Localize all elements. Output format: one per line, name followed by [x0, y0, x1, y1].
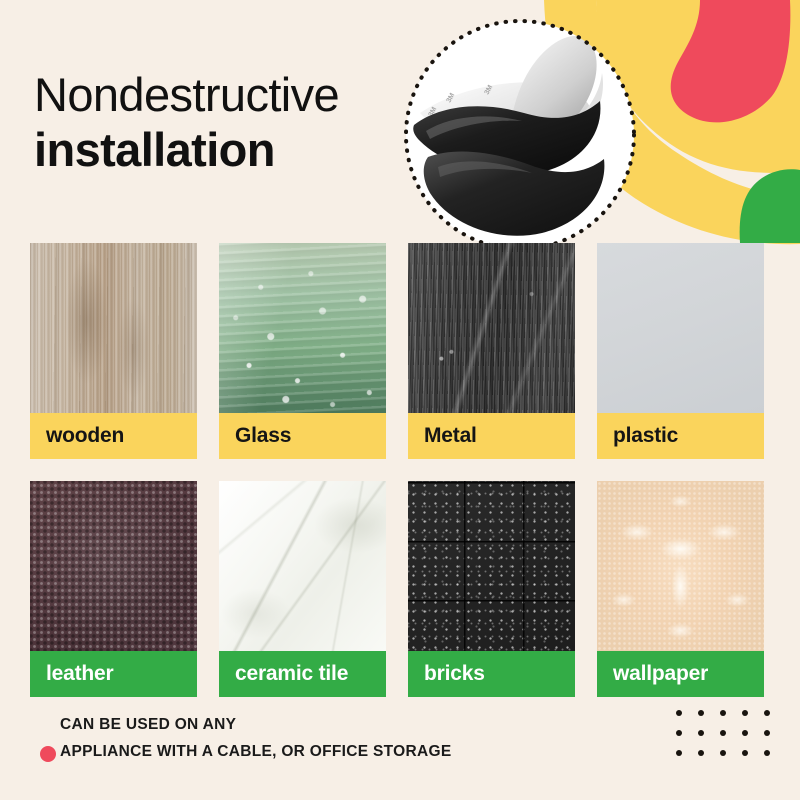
material-label: leather [30, 651, 197, 697]
grid-dot [676, 750, 682, 756]
grid-dot [720, 750, 726, 756]
plastic-texture-swatch [597, 243, 764, 413]
metal-texture-swatch [408, 243, 575, 413]
wallpaper-texture-swatch [597, 481, 764, 651]
glass-texture-swatch [219, 243, 386, 413]
grid-dot [764, 730, 770, 736]
material-grid: wooden Glass Metal plastic leather [30, 243, 770, 697]
material-tile-wallpaper[interactable]: wallpaper [597, 481, 764, 697]
material-label: Metal [408, 413, 575, 459]
headline-line-1: Nondestructive [34, 71, 434, 120]
hero-product-circle: 3M 3M 3M 3M 3M [406, 21, 634, 249]
material-label: ceramic tile [219, 651, 386, 697]
material-row-1: wooden Glass Metal plastic [30, 243, 770, 459]
material-label: bricks [408, 651, 575, 697]
dot-grid-decoration [676, 710, 786, 770]
grid-dot [742, 730, 748, 736]
material-label: Glass [219, 413, 386, 459]
wood-texture-swatch [30, 243, 197, 413]
material-row-2: leather ceramic tile bricks wallpaper [30, 481, 770, 697]
grid-dot [676, 730, 682, 736]
footer-line-2: APPLIANCE WITH A CABLE, OR OFFICE STORAG… [60, 739, 590, 766]
grid-dot [742, 710, 748, 716]
footer-note: CAN BE USED ON ANY APPLIANCE WITH A CABL… [30, 712, 590, 765]
dotted-circle-border [403, 18, 637, 252]
material-tile-bricks[interactable]: bricks [408, 481, 575, 697]
poster-canvas: Nondestructive installation [0, 0, 800, 800]
grid-dot [676, 710, 682, 716]
grid-dot [764, 710, 770, 716]
page-title: Nondestructive installation [34, 71, 434, 175]
bullet-dot-icon [40, 746, 56, 762]
footer-line-1: CAN BE USED ON ANY [60, 712, 590, 739]
grid-dot [698, 750, 704, 756]
material-tile-metal[interactable]: Metal [408, 243, 575, 459]
leather-texture-swatch [30, 481, 197, 651]
material-tile-glass[interactable]: Glass [219, 243, 386, 459]
green-rounded-shape [740, 169, 800, 243]
material-label: wooden [30, 413, 197, 459]
grid-dot [698, 710, 704, 716]
ceramic-texture-swatch [219, 481, 386, 651]
material-tile-leather[interactable]: leather [30, 481, 197, 697]
grid-dot [698, 730, 704, 736]
grid-dot [720, 730, 726, 736]
footer-text: CAN BE USED ON ANY APPLIANCE WITH A CABL… [60, 712, 590, 765]
material-tile-ceramic-tile[interactable]: ceramic tile [219, 481, 386, 697]
material-label: plastic [597, 413, 764, 459]
bricks-texture-swatch [408, 481, 575, 651]
headline-line-2: installation [34, 126, 434, 175]
material-tile-wooden[interactable]: wooden [30, 243, 197, 459]
red-blob-shape [671, 0, 791, 122]
grid-dot [742, 750, 748, 756]
grid-dot [764, 750, 770, 756]
material-label: wallpaper [597, 651, 764, 697]
material-tile-plastic[interactable]: plastic [597, 243, 764, 459]
grid-dot [720, 710, 726, 716]
